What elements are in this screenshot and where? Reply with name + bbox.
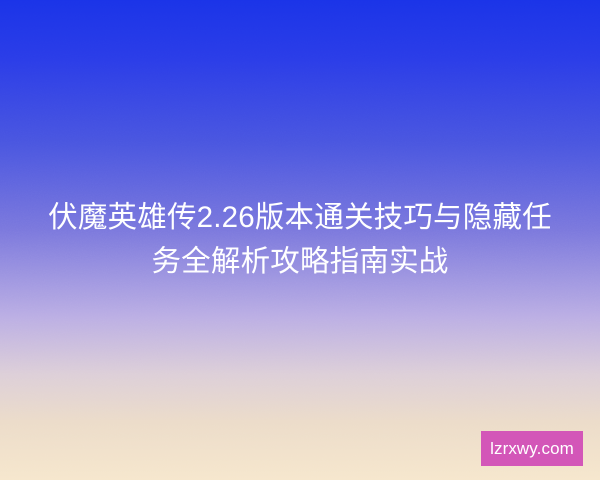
page-title: 伏魔英雄传2.26版本通关技巧与隐藏任务全解析攻略指南实战 [34,196,566,284]
watermark-badge[interactable]: lzrxwy.com [481,431,583,466]
cover-image-canvas: 伏魔英雄传2.26版本通关技巧与隐藏任务全解析攻略指南实战 lzrxwy.com [0,0,600,480]
watermark-domain-label: lzrxwy.com [490,440,574,457]
cover-title-block: 伏魔英雄传2.26版本通关技巧与隐藏任务全解析攻略指南实战 [0,196,600,284]
